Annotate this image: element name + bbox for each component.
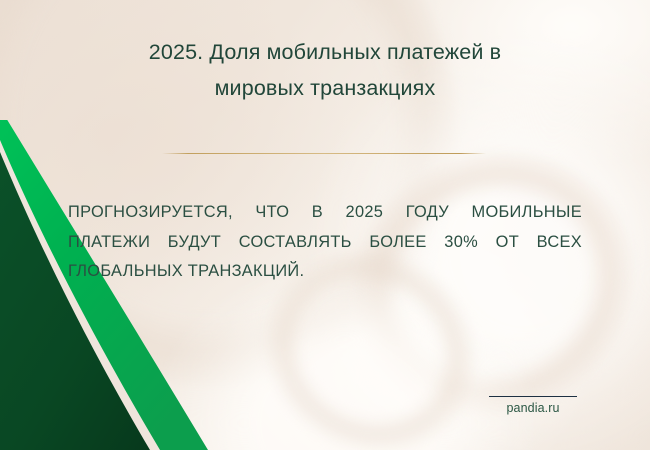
slide-body-text: ПРОГНОЗИРУЕТСЯ, ЧТО В 2025 ГОДУ МОБИЛЬНЫ… (68, 198, 582, 287)
title-divider-rule (162, 153, 486, 154)
footer-attribution: pandia.ru (489, 396, 577, 415)
slide-canvas: 2025. Доля мобильных платежей в мировых … (0, 0, 650, 450)
body-line-2: ПЛАТЕЖИ БУДУТ СОСТАВЛЯТЬ БОЛЕЕ 30% ОТ ВС… (68, 228, 582, 258)
body-line-1: ПРОГНОЗИРУЕТСЯ, ЧТО В 2025 ГОДУ МОБИЛЬНЫ… (68, 198, 582, 228)
footer-source-label: pandia.ru (489, 401, 577, 415)
body-line-3: ГЛОБАЛЬНЫХ ТРАНЗАКЦИЙ. (68, 257, 582, 287)
footer-divider-rule (489, 396, 577, 397)
title-line-2: мировых транзакциях (0, 70, 650, 106)
slide-title: 2025. Доля мобильных платежей в мировых … (0, 34, 650, 106)
title-line-1: 2025. Доля мобильных платежей в (0, 34, 650, 70)
